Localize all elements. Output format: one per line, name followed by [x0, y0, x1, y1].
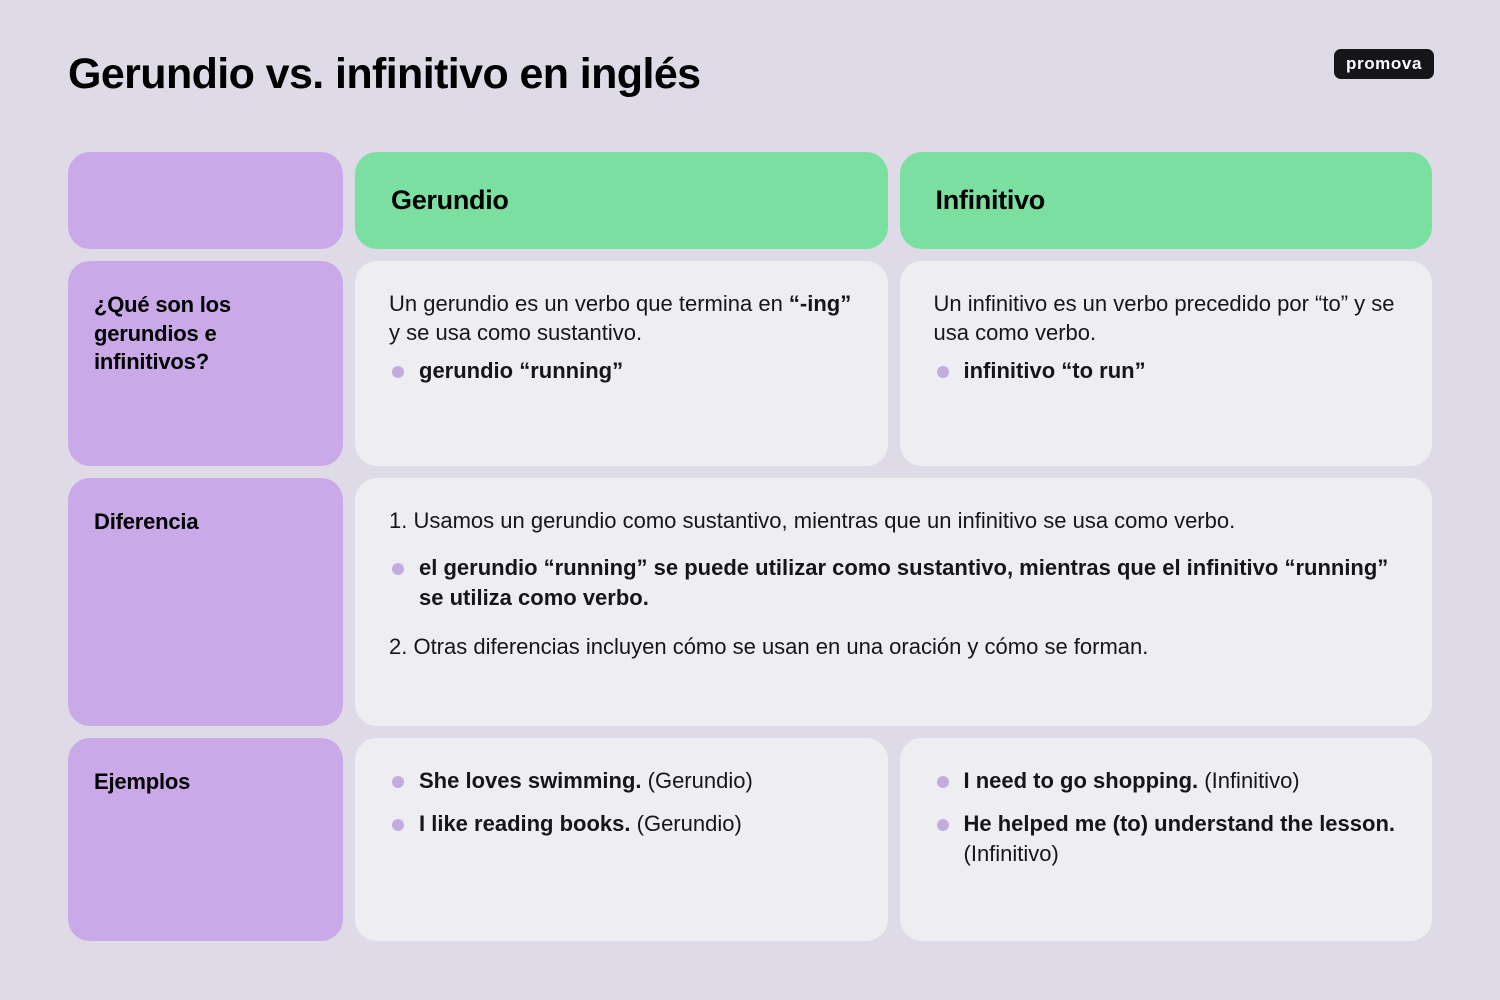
list-item-plain: (Infinitivo): [964, 841, 1059, 866]
list-item-strong: infinitivo “to run”: [964, 358, 1146, 383]
definition-infinitivo-bullets: infinitivo “to run”: [934, 356, 1399, 385]
page-header: Gerundio vs. infinitivo en inglés promov…: [0, 0, 1500, 150]
bullet-dot-icon: [937, 776, 949, 788]
column-header-infinitivo-label: Infinitivo: [936, 185, 1045, 216]
diferencia-point-2: 2. Otras diferencias incluyen cómo se us…: [389, 632, 1398, 661]
definition-gerundio-bold: “-ing”: [789, 291, 851, 316]
bullet-dot-icon: [937, 366, 949, 378]
row-label-ejemplos-text: Ejemplos: [94, 768, 317, 797]
list-item: I need to go shopping. (Infinitivo): [934, 766, 1399, 795]
definition-gerundio-post: y se usa como sustantivo.: [389, 320, 642, 345]
list-item-plain: (Gerundio): [631, 811, 742, 836]
list-item-strong: I like reading books.: [419, 811, 631, 836]
bullet-dot-icon: [392, 819, 404, 831]
cell-definitions-gerundio: Un gerundio es un verbo que termina en “…: [355, 261, 888, 466]
diferencia-bullets: el gerundio “running” se puede utilizar …: [389, 553, 1398, 612]
list-item: gerundio “running”: [389, 356, 854, 385]
definition-gerundio-pre: Un gerundio es un verbo que termina en: [389, 291, 789, 316]
table-header-row: Gerundio Infinitivo: [68, 152, 1432, 249]
row-label-ejemplos: Ejemplos: [68, 738, 343, 941]
comparison-table: Gerundio Infinitivo ¿Qué son los gerundi…: [68, 152, 1432, 941]
column-header-gerundio: Gerundio: [355, 152, 888, 249]
definition-infinitivo-paragraph: Un infinitivo es un verbo precedido por …: [934, 289, 1399, 348]
bullet-dot-icon: [392, 776, 404, 788]
list-item: I like reading books. (Gerundio): [389, 809, 854, 838]
ejemplos-infinitivo-bullets: I need to go shopping. (Infinitivo) He h…: [934, 766, 1399, 868]
list-item: He helped me (to) understand the lesson.…: [934, 809, 1399, 868]
bullet-dot-icon: [937, 819, 949, 831]
definition-gerundio-paragraph: Un gerundio es un verbo que termina en “…: [389, 289, 854, 348]
cell-definitions-infinitivo: Un infinitivo es un verbo precedido por …: [900, 261, 1433, 466]
table-row-ejemplos: Ejemplos She loves swimming. (Gerundio) …: [68, 738, 1432, 941]
cell-ejemplos-gerundio: She loves swimming. (Gerundio) I like re…: [355, 738, 888, 941]
column-header-gerundio-label: Gerundio: [391, 185, 509, 216]
list-item: She loves swimming. (Gerundio): [389, 766, 854, 795]
ejemplos-gerundio-bullets: She loves swimming. (Gerundio) I like re…: [389, 766, 854, 839]
bullet-dot-icon: [392, 563, 404, 575]
list-item-strong: I need to go shopping.: [964, 768, 1199, 793]
list-item: infinitivo “to run”: [934, 356, 1399, 385]
page-title: Gerundio vs. infinitivo en inglés: [68, 52, 700, 97]
table-row-diferencia: Diferencia 1. Usamos un gerundio como su…: [68, 478, 1432, 726]
list-item-strong: gerundio “running”: [419, 358, 623, 383]
diferencia-point-1: 1. Usamos un gerundio como sustantivo, m…: [389, 506, 1398, 535]
cell-diferencia-content: 1. Usamos un gerundio como sustantivo, m…: [355, 478, 1432, 726]
table-row-definitions: ¿Qué son los gerundios e infinitivos? Un…: [68, 261, 1432, 466]
cell-ejemplos-infinitivo: I need to go shopping. (Infinitivo) He h…: [900, 738, 1433, 941]
row-label-definitions: ¿Qué son los gerundios e infinitivos?: [68, 261, 343, 466]
row-label-definitions-text: ¿Qué son los gerundios e infinitivos?: [94, 291, 317, 377]
definition-infinitivo-pre: Un infinitivo es un verbo precedido por …: [934, 291, 1395, 345]
list-item-plain: (Gerundio): [642, 768, 753, 793]
bullet-dot-icon: [392, 366, 404, 378]
list-item-strong: She loves swimming.: [419, 768, 642, 793]
infographic-page: Gerundio vs. infinitivo en inglés promov…: [0, 0, 1500, 1000]
list-item-strong: el gerundio “running” se puede utilizar …: [419, 555, 1388, 609]
row-label-diferencia: Diferencia: [68, 478, 343, 726]
list-item-plain: (Infinitivo): [1198, 768, 1299, 793]
column-header-infinitivo: Infinitivo: [900, 152, 1433, 249]
definition-gerundio-bullets: gerundio “running”: [389, 356, 854, 385]
promova-logo: promova: [1334, 49, 1434, 79]
row-label-diferencia-text: Diferencia: [94, 508, 317, 537]
table-corner-cell: [68, 152, 343, 249]
list-item: el gerundio “running” se puede utilizar …: [389, 553, 1398, 612]
list-item-strong: He helped me (to) understand the lesson.: [964, 811, 1396, 836]
